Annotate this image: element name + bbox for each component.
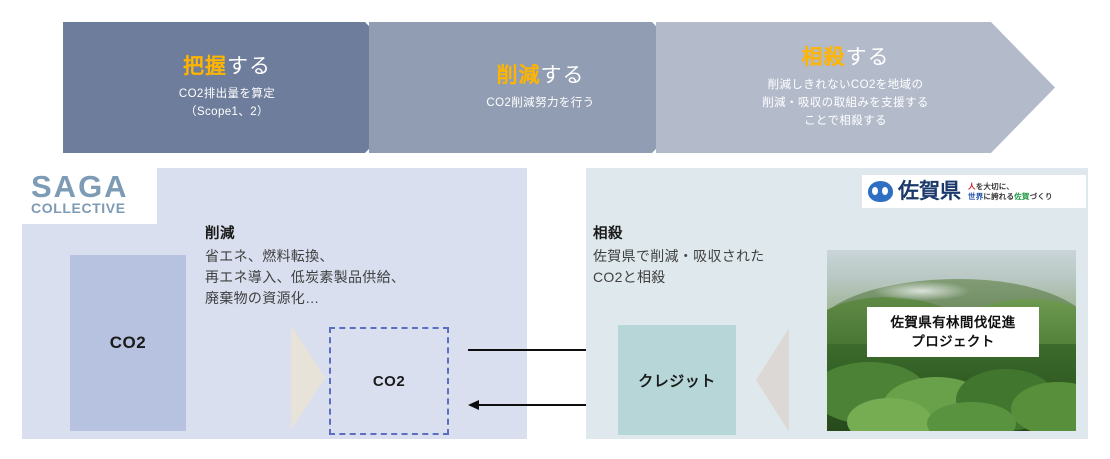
reduction-line: 省エネ、燃料転換、 — [205, 246, 405, 267]
offset-text-block: 相殺 佐賀県で削減・吸収された CO2と相殺 — [593, 224, 765, 288]
banner-step-1-title-highlight: 把握 — [183, 55, 227, 78]
banner-step-1-title: 把握する — [179, 54, 275, 79]
reduction-line: 廃棄物の資源化… — [205, 288, 405, 309]
arrow-right-to-credit — [468, 349, 600, 351]
tagline-end: づくり — [1030, 192, 1053, 201]
banner-step-2-title-plain: する — [541, 64, 585, 87]
co2-residual-box: CO2 — [329, 327, 449, 435]
photo-caption: 佐賀県有林間伐促進 プロジェクト — [867, 307, 1039, 357]
banner-step-2-subtitle: CO2削減努力を行う — [486, 95, 594, 113]
banner-step-1-title-plain: する — [227, 55, 271, 78]
banner-step-3-subtitle-line: 削減・吸収の取組みを支援する — [762, 95, 929, 113]
co2-emissions-box: CO2 — [70, 255, 186, 431]
photo-caption-line: 佐賀県有林間伐促進 — [890, 313, 1015, 332]
banner-step-3-title-plain: する — [845, 46, 889, 69]
offset-line: CO2と相殺 — [593, 267, 765, 288]
credit-box: クレジット — [618, 325, 736, 435]
banner-step-3-arrow-tip — [991, 22, 1055, 153]
banner-step-2-subtitle-line: CO2削減努力を行う — [486, 95, 594, 113]
banner-step-3-title: 相殺する — [762, 45, 929, 70]
reduction-text-block: 削減 省エネ、燃料転換、 再エネ導入、低炭素製品供給、 廃棄物の資源化… — [205, 224, 405, 310]
saga-prefecture-mark-icon — [868, 181, 893, 202]
reduction-line: 再エネ導入、低炭素製品供給、 — [205, 267, 405, 288]
banner-step-1-subtitle-line: CO2排出量を算定 — [179, 86, 275, 104]
saga-prefecture-tagline-line2: 世界に誇れる佐賀づくり — [968, 192, 1053, 202]
tagline-mid: に誇れる — [983, 192, 1014, 201]
banner-step-1-subtitle: CO2排出量を算定 （Scope1、2） — [179, 86, 275, 122]
arrow-shaft — [468, 349, 590, 351]
banner-step-1-subtitle-line: （Scope1、2） — [179, 104, 275, 122]
banner-step-3: 相殺する 削減しきれないCO2を地域の 削減・吸収の取組みを支援する ことで相殺… — [656, 22, 991, 153]
banner-step-3-subtitle: 削減しきれないCO2を地域の 削減・吸収の取組みを支援する ことで相殺する — [762, 77, 929, 130]
arrow-shaft — [478, 404, 600, 406]
saga-prefecture-tagline-line1: 人を大切に、 — [968, 182, 1053, 192]
saga-collective-logo-line1: SAGA — [31, 171, 129, 203]
tagline-blue: 世界 — [968, 192, 983, 201]
saga-collective-logo-line2: COLLECTIVE — [31, 201, 126, 216]
photo-caption-line: プロジェクト — [911, 332, 994, 351]
forest-project-photo: 佐賀県有林間伐促進 プロジェクト — [827, 250, 1076, 431]
offset-line: 佐賀県で削減・吸収された — [593, 246, 765, 267]
tagline-rest: を大切に、 — [976, 182, 1014, 191]
banner-step-1: 把握する CO2排出量を算定 （Scope1、2） — [63, 22, 365, 153]
banner-step-3-title-highlight: 相殺 — [801, 46, 845, 69]
banner-step-2: 削減する CO2削減努力を行う — [369, 22, 652, 153]
banner-step-3-subtitle-line: ことで相殺する — [762, 113, 929, 131]
reduction-heading: 削減 — [205, 224, 405, 246]
tagline-green: 佐賀 — [1014, 192, 1029, 201]
offset-heading: 相殺 — [593, 224, 765, 246]
arrow-head-left-icon — [468, 400, 479, 410]
process-banner: 把握する CO2排出量を算定 （Scope1、2） 削減する CO2削減努力を行… — [63, 22, 1055, 153]
saga-prefecture-tagline: 人を大切に、 世界に誇れる佐賀づくり — [968, 182, 1053, 202]
banner-step-2-title-highlight: 削減 — [497, 64, 541, 87]
photo-mist — [872, 281, 972, 301]
banner-step-3-subtitle-line: 削減しきれないCO2を地域の — [762, 77, 929, 95]
saga-prefecture-name: 佐賀県 — [898, 181, 961, 202]
tagline-red: 人 — [968, 182, 976, 191]
saga-collective-logo: SAGA COLLECTIVE — [22, 168, 157, 224]
saga-prefecture-logo: 佐賀県 人を大切に、 世界に誇れる佐賀づくり — [862, 175, 1086, 208]
arrow-left-to-co2 — [468, 404, 600, 406]
banner-step-2-title: 削減する — [486, 63, 594, 88]
